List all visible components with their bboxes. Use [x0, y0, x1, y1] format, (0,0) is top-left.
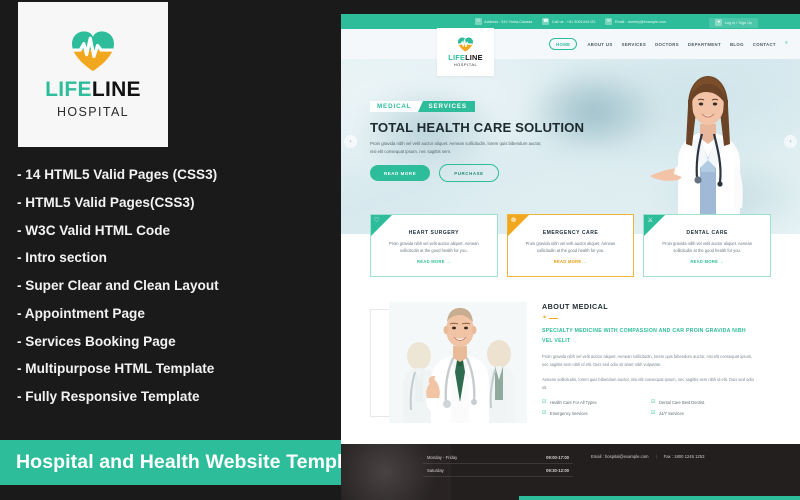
- site-nav: HOME ABOUT US SERVICES DOCTORS DEPARTMEN…: [549, 38, 788, 50]
- brand-name-part1: LIFE: [45, 78, 92, 101]
- topbar-contact-info: ☉ Address : 510 Yonla,Canada ☎ Call us :…: [475, 18, 667, 25]
- footer-email[interactable]: Email : hospital@example.com: [591, 454, 649, 459]
- about-medical-section: ABOUT MEDICAL ✶ SPECIALTY MEDICINE WITH …: [341, 284, 800, 444]
- hero-content: MEDICAL SERVICES TOTAL HEALTH CARE SOLUT…: [370, 101, 584, 182]
- about-image: [389, 302, 527, 423]
- opening-hours-day: Monday - Friday: [427, 455, 457, 460]
- tooth-icon: ⚔: [647, 218, 653, 225]
- heart-shield-icon: ♡: [374, 218, 380, 225]
- search-icon[interactable]: ⌕: [785, 41, 788, 47]
- about-paragraph: Proin gravida nibh vel velit auctor aliq…: [542, 353, 754, 369]
- opening-hours-time: 09:00-17:00: [546, 455, 569, 460]
- read-more-button[interactable]: READ MORE: [370, 165, 430, 181]
- checklist-label: Dental Care Best Dentist.: [659, 400, 705, 405]
- nav-item-blog[interactable]: BLOG: [730, 42, 744, 47]
- brand-subtitle: HOSPITAL: [57, 105, 129, 119]
- about-heading: ABOUT MEDICAL: [542, 302, 771, 311]
- brand-logo-card: LIFELINE HOSPITAL: [18, 2, 168, 147]
- opening-hours-day: Saturday: [427, 468, 444, 473]
- site-logo-part1: LIFE: [448, 53, 465, 62]
- site-topbar: ☉ Address : 510 Yonla,Canada ☎ Call us :…: [341, 14, 800, 29]
- location-pin-icon: ☉: [475, 18, 482, 25]
- feature-item: - Services Booking Page: [17, 335, 337, 349]
- site-logo-subtitle: HOSPITAL: [454, 62, 478, 67]
- nav-item-doctors[interactable]: DOCTORS: [655, 42, 679, 47]
- feature-item: - Intro section: [17, 251, 337, 265]
- nav-item-services[interactable]: SERVICES: [622, 42, 646, 47]
- user-icon: ●: [715, 19, 722, 26]
- about-paragraph: Aenean sollicitudin, lorem quis bibendum…: [542, 376, 754, 392]
- service-card-read-more[interactable]: READ MORE →: [690, 259, 724, 264]
- footer-contact-info: Email : hospital@example.com | Fax : 180…: [591, 454, 704, 459]
- flower-icon: ✶: [542, 315, 547, 321]
- promo-banner-text: Hospital and Health Website Template: [0, 451, 371, 474]
- site-logo-wordmark: LIFELINE: [448, 54, 482, 61]
- service-card-heart-surgery[interactable]: ♡ HEART SURGERY Proin gravida nibh vel v…: [370, 214, 498, 277]
- footer-accent-bar: [519, 496, 800, 500]
- ambulance-icon: ☸: [511, 218, 517, 225]
- purchase-button[interactable]: PURCHASE: [439, 164, 498, 182]
- footer-fax: Fax : 1800 1245 1253: [664, 454, 705, 459]
- checklist-label: Health Care For All Types: [550, 400, 597, 405]
- login-signup-label: Log in / Sign Up: [725, 21, 752, 25]
- login-signup-button[interactable]: ● Log in / Sign Up: [709, 18, 758, 28]
- service-card-read-more[interactable]: READ MORE →: [417, 259, 451, 264]
- envelope-icon: ✉: [605, 18, 612, 25]
- site-header: LIFELINE HOSPITAL HOME ABOUT US SERVICES…: [341, 29, 800, 59]
- topbar-email[interactable]: ✉ Email : dummy@example.com: [605, 18, 666, 25]
- checklist-item: ☑ 24/7 Services: [651, 411, 754, 416]
- service-card-text: Proin gravida nibh vel velit auctor aliq…: [517, 240, 625, 254]
- opening-hours-row: Saturday 09:30-12:00: [423, 464, 573, 477]
- site-logo[interactable]: LIFELINE HOSPITAL: [437, 28, 494, 76]
- opening-hours-time: 09:30-12:00: [546, 468, 569, 473]
- service-card-text: Proin gravida nibh vel velit auctor aliq…: [380, 240, 488, 254]
- service-card-title: DENTAL CARE: [686, 230, 728, 236]
- service-cards: ♡ HEART SURGERY Proin gravida nibh vel v…: [341, 214, 800, 277]
- topbar-address: ☉ Address : 510 Yonla,Canada: [475, 18, 533, 25]
- topbar-address-text: Address : 510 Yonla,Canada: [484, 20, 532, 24]
- hero-doctor-image: [648, 72, 766, 234]
- service-card-title: HEART SURGERY: [409, 230, 459, 236]
- heart-pulse-icon: [70, 30, 116, 72]
- feature-item: - Fully Responsive Template: [17, 390, 337, 404]
- nav-item-home[interactable]: HOME: [549, 38, 577, 50]
- about-media: [370, 302, 534, 444]
- check-square-icon: ☑: [542, 411, 546, 416]
- nav-item-about-us[interactable]: ABOUT US: [587, 42, 612, 47]
- feature-item: - 14 HTML5 Valid Pages (CSS3): [17, 168, 337, 182]
- service-card-text: Proin gravida nibh vel velit auctor aliq…: [653, 240, 761, 254]
- feature-item: - Super Clear and Clean Layout: [17, 279, 337, 293]
- doctor-thumbs-up-image: [389, 302, 527, 423]
- about-subtitle: SPECIALTY MEDICINE WITH COMPASSION AND C…: [542, 327, 747, 346]
- hero-badge: MEDICAL SERVICES: [370, 101, 584, 112]
- checklist-item: ☑ Emergency Services: [542, 411, 645, 416]
- website-preview: ☉ Address : 510 Yonla,Canada ☎ Call us :…: [341, 14, 800, 500]
- hero-actions: READ MORE PURCHASE: [370, 164, 584, 182]
- site-logo-part2: LINE: [465, 53, 483, 62]
- hero-title: TOTAL HEALTH CARE SOLUTION: [370, 120, 584, 135]
- checklist-label: 24/7 Services: [659, 411, 684, 416]
- service-card-emergency-care[interactable]: ☸ EMERGENCY CARE Proin gravida nibh vel …: [507, 214, 635, 277]
- check-square-icon: ☑: [542, 400, 546, 405]
- feature-list: - 14 HTML5 Valid Pages (CSS3) - HTML5 Va…: [17, 168, 337, 418]
- topbar-email-text: Email : dummy@example.com: [615, 20, 666, 24]
- feature-item: - Multipurpose HTML Template: [17, 362, 337, 376]
- about-content: ABOUT MEDICAL ✶ SPECIALTY MEDICINE WITH …: [534, 302, 771, 444]
- promo-banner: Hospital and Health Website Template: [0, 440, 341, 485]
- check-square-icon: ☑: [651, 400, 655, 405]
- promo-left-panel: LIFELINE HOSPITAL - 14 HTML5 Valid Pages…: [0, 0, 341, 500]
- about-ornament: ✶: [542, 315, 771, 321]
- nav-item-contact[interactable]: CONTACT: [753, 42, 776, 47]
- heart-pulse-icon: [457, 37, 474, 52]
- topbar-phone[interactable]: ☎ Call us : +61 5001444 /22: [542, 18, 595, 25]
- service-card-dental-care[interactable]: ⚔ DENTAL CARE Proin gravida nibh vel vel…: [643, 214, 771, 277]
- check-square-icon: ☑: [651, 411, 655, 416]
- ornament-bar: [549, 318, 558, 319]
- checklist-label: Emergency Services: [550, 411, 588, 416]
- service-card-read-more[interactable]: READ MORE →: [554, 259, 588, 264]
- hero-description: Proin gravida nibh vel velit auctor aliq…: [370, 140, 542, 155]
- opening-hours-row: Monday - Friday 09:00-17:00: [423, 451, 573, 464]
- brand-wordmark: LIFELINE: [45, 79, 141, 100]
- opening-hours-table: Monday - Friday 09:00-17:00 Saturday 09:…: [423, 451, 573, 477]
- site-footer-schedule: Monday - Friday 09:00-17:00 Saturday 09:…: [341, 444, 800, 500]
- hero-badge-medical: MEDICAL: [370, 101, 418, 112]
- checklist-item: ☑ Health Care For All Types: [542, 400, 645, 405]
- service-card-title: EMERGENCY CARE: [543, 230, 599, 236]
- about-checklist: ☑ Health Care For All Types ☑ Dental Car…: [542, 400, 754, 416]
- feature-item: - Appointment Page: [17, 307, 337, 321]
- hero-slider: MEDICAL SERVICES TOTAL HEALTH CARE SOLUT…: [341, 59, 800, 234]
- footer-separator: |: [656, 454, 657, 459]
- brand-name-part2: LINE: [92, 78, 141, 101]
- feature-item: - W3C Valid HTML Code: [17, 224, 337, 238]
- hero-badge-services: SERVICES: [418, 101, 475, 112]
- nav-item-department[interactable]: DEPARTMENT: [688, 42, 721, 47]
- chevron-right-icon[interactable]: ›: [784, 135, 797, 148]
- feature-item: - HTML5 Valid Pages(CSS3): [17, 196, 337, 210]
- phone-icon: ☎: [542, 18, 549, 25]
- topbar-phone-text: Call us : +61 5001444 /22: [552, 20, 596, 24]
- checklist-item: ☑ Dental Care Best Dentist.: [651, 400, 754, 405]
- chevron-left-icon[interactable]: ‹: [344, 135, 357, 148]
